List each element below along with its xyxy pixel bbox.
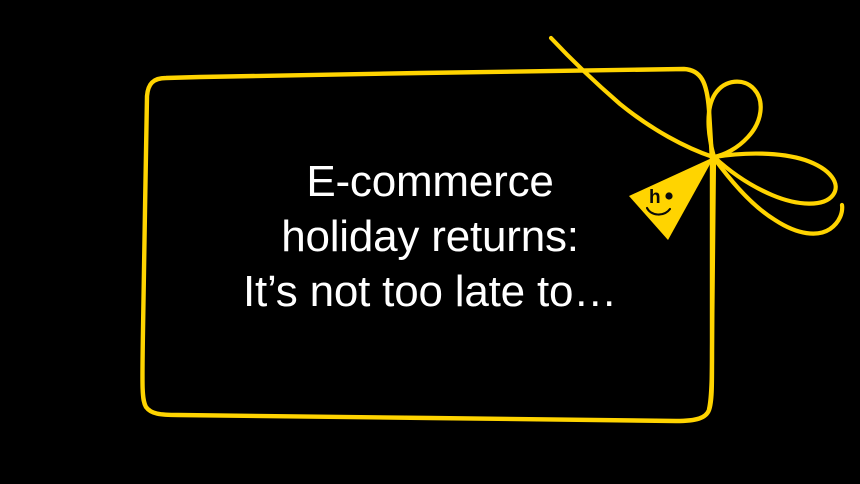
logo-dot-icon: [665, 192, 672, 199]
ribbon-tail-left: [551, 38, 713, 157]
gift-illustration: h: [0, 0, 860, 484]
logo-letter-h: h: [649, 187, 661, 208]
promo-card: h E-commerce holiday returns: It’s not t…: [0, 0, 860, 484]
ribbon-loop-upper: [709, 82, 761, 157]
gift-box-outline: [142, 69, 712, 421]
